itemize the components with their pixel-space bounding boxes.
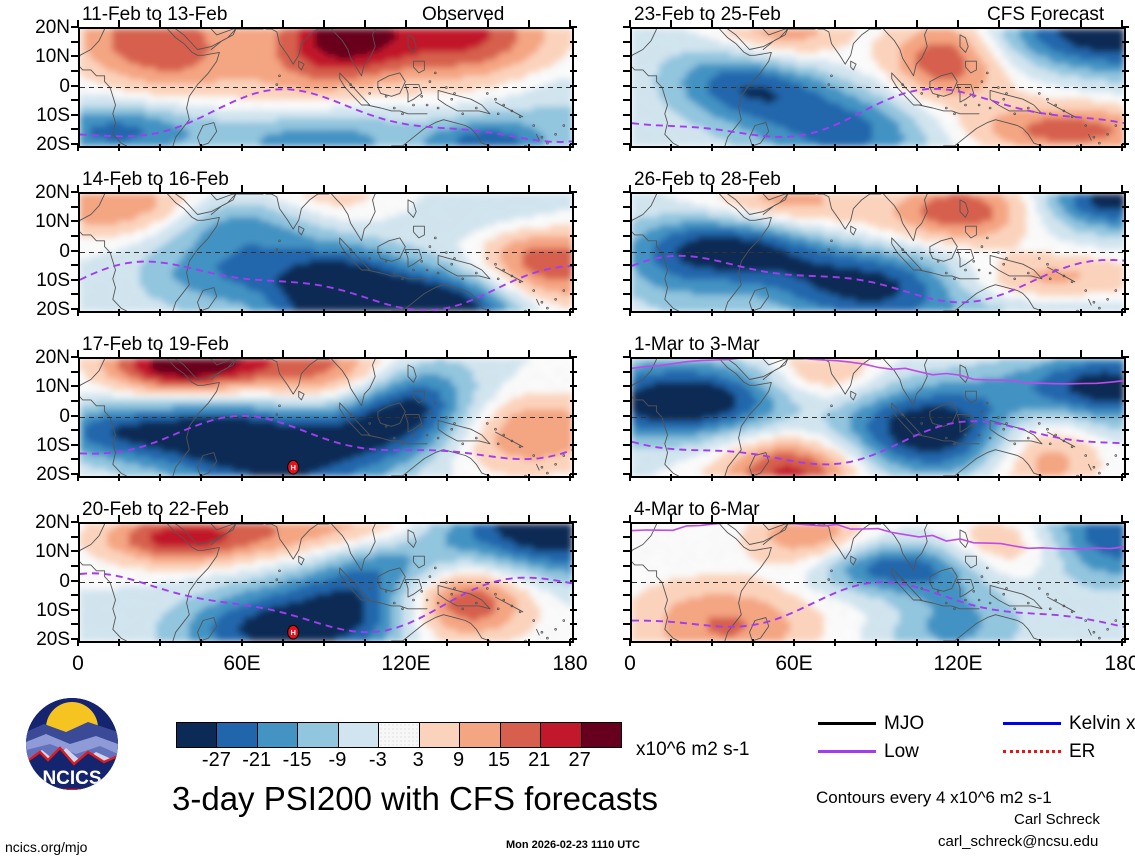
y-tick-label: 0: [6, 242, 70, 261]
contour-interval-note: Contours every 4 x10^6 m2 s-1: [816, 789, 1052, 806]
ncics-logo[interactable]: NCICS: [26, 698, 118, 790]
panel-ticks: [78, 192, 570, 309]
panel-ticks: [630, 27, 1122, 144]
y-tick-label: 10S: [6, 436, 70, 455]
generation-timestamp: Mon 2026-02-23 1110 UTC: [506, 840, 640, 851]
legend-label: Kelvin x2: [1069, 714, 1135, 733]
legend-line-swatch: [1003, 722, 1061, 725]
legend-label: MJO: [884, 714, 924, 733]
ncics-logo-graphic: NCICS: [26, 698, 118, 790]
colorbar-segment: [217, 723, 257, 747]
y-tick-label: 10S: [6, 271, 70, 290]
y-tick-label: 10N: [6, 377, 70, 396]
legend-item-er: ER: [1003, 742, 1095, 761]
panel-title: 26-Feb to 28-Feb: [634, 170, 781, 189]
panel-title: 4-Mar to 6-Mar: [634, 500, 760, 519]
y-tick-label: 20N: [6, 183, 70, 202]
panel-title: 20-Feb to 22-Feb: [82, 500, 229, 519]
colorbar-segment: [177, 723, 217, 747]
panel-ticks: [78, 522, 570, 639]
x-tick-label: 0: [595, 653, 665, 674]
y-tick-label: 10S: [6, 106, 70, 125]
y-tick-label: 20S: [6, 135, 70, 154]
colorbar-segment: [582, 723, 621, 747]
legend-label: Low: [884, 742, 919, 761]
panel-title: 14-Feb to 16-Feb: [82, 170, 229, 189]
y-tick-label: 20S: [6, 300, 70, 319]
page-title: 3-day PSI200 with CFS forecasts: [172, 782, 658, 815]
legend-line-swatch: [818, 750, 876, 753]
colorbar-segment: [460, 723, 500, 747]
y-tick-label: 10N: [6, 47, 70, 66]
legend-label: ER: [1069, 742, 1095, 761]
colorbar-tick-label: 27: [552, 750, 608, 770]
y-tick-label: 0: [6, 77, 70, 96]
y-tick-label: 10S: [6, 601, 70, 620]
panel-title: 1-Mar to 3-Mar: [634, 335, 760, 354]
panel-ticks: [78, 357, 570, 474]
legend-item-kelvin-x2: Kelvin x2: [1003, 714, 1135, 733]
x-tick-label: 120E: [371, 653, 441, 674]
y-tick-label: 20S: [6, 630, 70, 649]
colorbar-units-label: x10^6 m2 s-1: [636, 740, 749, 759]
colorbar-segment: [298, 723, 338, 747]
panel-ticks: [630, 192, 1122, 309]
author-name: Carl Schreck: [1014, 812, 1100, 827]
site-url[interactable]: ncics.org/mjo: [5, 840, 87, 854]
panel-title: 23-Feb to 25-Feb: [634, 5, 781, 24]
column-label-observed: Observed: [422, 5, 504, 24]
x-tick-label: 0: [43, 653, 113, 674]
panel-title: 17-Feb to 19-Feb: [82, 335, 229, 354]
column-label-forecast: CFS Forecast: [987, 5, 1104, 24]
author-email[interactable]: carl_schreck@ncsu.edu: [938, 834, 1098, 849]
legend-line-swatch: [1003, 750, 1061, 753]
panel-ticks: [630, 522, 1122, 639]
panel-title: 11-Feb to 13-Feb: [82, 5, 227, 24]
colorbar-segment: [541, 723, 581, 747]
y-tick-label: 20N: [6, 348, 70, 367]
legend-item-mjo: MJO: [818, 714, 924, 733]
y-tick-label: 0: [6, 572, 70, 591]
panel-ticks: [630, 357, 1122, 474]
x-tick-label: 60E: [207, 653, 277, 674]
legend-line-swatch: [818, 722, 876, 725]
y-tick-label: 10N: [6, 212, 70, 231]
x-tick-label: 60E: [759, 653, 829, 674]
y-tick-label: 20N: [6, 18, 70, 37]
y-tick-label: 10N: [6, 542, 70, 561]
y-tick-label: 20S: [6, 465, 70, 484]
y-tick-label: 20N: [6, 513, 70, 532]
y-tick-label: 0: [6, 407, 70, 426]
legend-item-low: Low: [818, 742, 919, 761]
colorbar: [176, 722, 622, 748]
colorbar-segment: [501, 723, 541, 747]
x-tick-label: 180: [1087, 653, 1135, 674]
colorbar-segment: [258, 723, 298, 747]
colorbar-segment: [420, 723, 460, 747]
x-tick-label: 120E: [923, 653, 993, 674]
panel-ticks: [78, 27, 570, 144]
colorbar-segment: [379, 723, 419, 747]
colorbar-segment: [339, 723, 379, 747]
